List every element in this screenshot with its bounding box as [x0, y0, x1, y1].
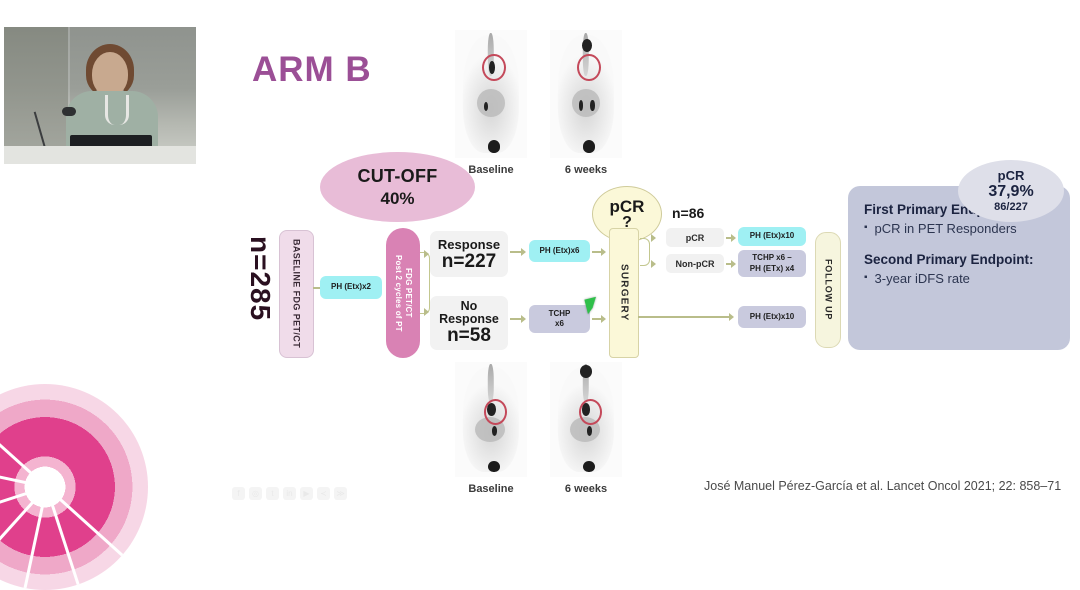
- arrow-icon: [601, 315, 606, 323]
- pet-label-baseline-bottom: Baseline: [455, 483, 527, 495]
- arrow-icon: [731, 234, 736, 242]
- youtube-icon[interactable]: ▶: [300, 487, 313, 500]
- pcr-split-brace: [640, 238, 650, 266]
- pcr-node: pCR: [666, 228, 724, 247]
- social-icon-row: f ◎ t in ▶ ≺ ≫: [232, 487, 347, 500]
- citation-text: José Manuel Pérez-García et al. Lancet O…: [704, 479, 1061, 493]
- arrow-icon: [521, 248, 526, 256]
- lesion-marker-icon: [579, 399, 602, 425]
- split-brace: [420, 252, 430, 314]
- baseline-petct-node: BASELINE FDG PET/CT: [279, 230, 314, 358]
- instagram-icon[interactable]: ◎: [249, 487, 262, 500]
- nonresponder-adjuvant-box: PH (Etx)x10: [738, 306, 806, 328]
- pet-label-6weeks-bottom: 6 weeks: [550, 483, 622, 495]
- response-label: Response: [438, 237, 500, 252]
- enrolled-count: n=285: [244, 236, 276, 321]
- non-pcr-node: Non-pCR: [666, 254, 724, 273]
- follow-up-node: FOLLOW UP: [815, 232, 841, 348]
- pcr-question-label: pCR: [610, 198, 645, 215]
- pcr-result-label: pCR: [998, 169, 1025, 184]
- pcr-result-badge: pCR 37,9% 86/227: [958, 160, 1064, 222]
- pet-scan-baseline-bottom: [455, 362, 527, 477]
- pet-scan-6weeks-bottom: [550, 362, 622, 477]
- second-endpoint-title: Second Primary Endpoint:: [864, 252, 1054, 267]
- page-title: ARM B: [252, 50, 372, 90]
- no-response-node: No Response n=58: [430, 296, 508, 350]
- non-pcr-treatment-box: TCHP x6 – PH (ETx) x4: [738, 250, 806, 277]
- nonresponder-treatment-box: TCHP x6: [529, 305, 590, 333]
- lesion-marker-icon: [482, 54, 505, 81]
- bullet-icon: ▪: [864, 271, 868, 285]
- pcr-result-fraction: 86/227: [994, 201, 1028, 213]
- surgery-node: SURGERY: [609, 228, 639, 358]
- linkedin-icon[interactable]: in: [283, 487, 296, 500]
- connector: [638, 316, 730, 318]
- cutoff-callout: CUT-OFF 40%: [320, 152, 475, 222]
- arrow-icon: [424, 250, 429, 258]
- pet-scan-6weeks-top: [550, 30, 622, 158]
- rss-icon[interactable]: ≫: [334, 487, 347, 500]
- first-endpoint-text: pCR in PET Responders: [875, 221, 1017, 236]
- arrow-icon: [521, 315, 526, 323]
- share-icon[interactable]: ≺: [317, 487, 330, 500]
- mouse-cursor: [584, 297, 599, 314]
- response-count: n=227: [442, 252, 496, 272]
- bullet-icon: ▪: [864, 221, 868, 235]
- arrow-icon: [729, 313, 734, 321]
- video-background-wall: [4, 27, 68, 164]
- cutoff-value: 40%: [380, 189, 414, 209]
- cutoff-label: CUT-OFF: [357, 166, 437, 187]
- twitter-icon[interactable]: t: [266, 487, 279, 500]
- microphone-icon: [62, 107, 76, 116]
- brand-burst-decoration: [0, 384, 148, 590]
- induction-treatment-box: PH (Etx)x2: [320, 276, 382, 299]
- arrow-icon: [731, 260, 736, 268]
- facebook-icon[interactable]: f: [232, 487, 245, 500]
- lesion-marker-icon: [577, 54, 600, 81]
- second-endpoint-item: ▪ 3-year iDFS rate: [864, 271, 1054, 286]
- pcr-treatment-box: PH (Etx)x10: [738, 227, 806, 246]
- arrow-icon: [601, 248, 606, 256]
- response-node: Response n=227: [430, 231, 508, 277]
- responder-treatment-box: PH (Etx)x6: [529, 240, 590, 262]
- no-response-count: n=58: [447, 326, 491, 346]
- pet-scan-baseline-top: [455, 30, 527, 158]
- presenter-lanyard: [105, 95, 129, 125]
- no-response-label: No Response: [439, 300, 499, 326]
- presenter-video-feed[interactable]: [4, 27, 196, 164]
- pcr-result-percent: 37,9%: [988, 183, 1033, 201]
- interim-petct-node: FDG PET/CT Post 2 cycles of PT: [386, 228, 420, 358]
- arrow-icon: [651, 260, 656, 268]
- presenter-head: [92, 52, 128, 96]
- second-endpoint-text: 3-year iDFS rate: [875, 271, 970, 286]
- arrow-icon: [424, 308, 429, 316]
- pcr-cohort-count: n=86: [672, 205, 704, 221]
- lesion-marker-icon: [484, 399, 507, 425]
- arrow-icon: [651, 234, 656, 242]
- first-endpoint-item: ▪ pCR in PET Responders: [864, 221, 1054, 236]
- podium: [4, 146, 196, 164]
- pet-label-6weeks-top: 6 weeks: [550, 164, 622, 176]
